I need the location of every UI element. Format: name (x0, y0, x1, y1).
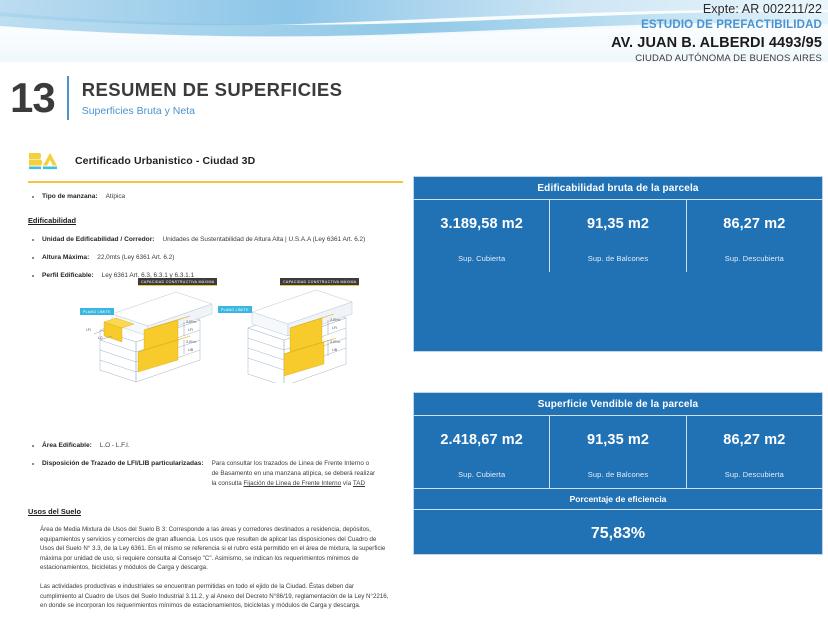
section-title: 13 RESUMEN DE SUPERFICIES Superficies Br… (10, 76, 342, 120)
ba-logo-icon (28, 151, 61, 171)
section-number: 13 (10, 76, 67, 120)
dim-top-right: 3,00 m (330, 318, 340, 322)
diagram-left-graphic (78, 278, 223, 383)
bruta-descubierta-caption: Sup. Descubierta (725, 254, 784, 263)
disposicion-via-label: vía (343, 480, 351, 487)
table-bruta-row: 3.189,58 m2 Sup. Cubierta 91,35 m2 Sup. … (414, 200, 822, 272)
altura-maxima-value: 22,0mts (Ley 6361 Art. 6.2) (97, 253, 174, 262)
dim-top-sub-left: LFI (188, 328, 193, 332)
altura-maxima-label: Altura Máxima: (42, 253, 89, 262)
unidad-edificabilidad-value: Unidades de Sustentabilidad de Altura Al… (162, 235, 365, 244)
page-title: RESUMEN DE SUPERFICIES (82, 79, 343, 101)
unidad-edificabilidad-label: Unidad de Edificabilidad / Corredor: (42, 235, 154, 244)
bruta-cubierta-value: 3.189,58 m2 (440, 216, 523, 232)
tad-link[interactable]: TAD (353, 480, 365, 487)
dim-left-lfi: LFI (86, 328, 91, 332)
detail-area-edificable: Área Edificable: L.O - L.F.I. (28, 441, 406, 450)
section-title-divider (67, 76, 69, 120)
tipo-manzana-label: Tipo de manzana: (42, 192, 98, 201)
page-subtitle: Superficies Bruta y Neta (82, 105, 343, 118)
bottom-text-panel: Área Edificable: L.O - L.F.I. Disposició… (28, 432, 406, 611)
table-edificabilidad-bruta: Edificabilidad bruta de la parcela 3.189… (413, 176, 823, 352)
bruta-balcones-caption: Sup. de Balcones (588, 254, 648, 263)
diagram-right-caption: CAPACIDAD CONSTRUCTIVA MÁXIMA (280, 278, 359, 286)
table-vendible-row: 2.418,67 m2 Sup. Cubierta 91,35 m2 Sup. … (414, 416, 822, 488)
table-superficie-vendible: Superficie Vendible de la parcela 2.418,… (413, 392, 823, 555)
dim-bottom-left: 3,00 m (186, 340, 196, 344)
yellow-divider (28, 181, 403, 183)
porcentaje-eficiencia-label: Porcentaje de eficiencia (414, 488, 822, 510)
diagram-capacidad-constructiva-left: CAPACIDAD CONSTRUCTIVA MÁXIMA (78, 278, 223, 383)
usos-paragraph-1: Área de Media Mixtura de Usos del Suelo … (40, 525, 392, 573)
study-type-label: ESTUDIO DE PREFACTIBILIDAD (611, 18, 822, 33)
header-text-block: Expte: AR 002211/22 ESTUDIO DE PREFACTIB… (611, 2, 822, 62)
usos-del-suelo-heading: Usos del Suelo (28, 507, 406, 516)
table-vendible-header: Superficie Vendible de la parcela (414, 393, 822, 416)
table-bruta-cell-cubierta: 3.189,58 m2 Sup. Cubierta (414, 200, 549, 272)
table-bruta-header: Edificabilidad bruta de la parcela (414, 177, 822, 200)
plano-limite-badge-right: PLANO LÍMITE (218, 306, 252, 313)
left-content-panel: Certificado Urbanistico - Ciudad 3D Tipo… (28, 150, 403, 280)
dim-left-lo: LO (98, 336, 103, 340)
isometric-diagrams: CAPACIDAD CONSTRUCTIVA MÁXIMA (78, 278, 378, 383)
property-address: AV. JUAN B. ALBERDI 4493/95 (611, 35, 822, 52)
bruta-descubierta-value: 86,27 m2 (723, 216, 785, 232)
dim-top-sub-right: LFI (332, 326, 337, 330)
vendible-cubierta-caption: Sup. Cubierta (458, 470, 505, 479)
disposicion-line-1: Para consultar los trazados de Linea de … (212, 460, 370, 467)
table-bruta-cell-balcones: 91,35 m2 Sup. de Balcones (549, 200, 685, 272)
porcentaje-eficiencia-value: 75,83% (414, 510, 822, 558)
disposicion-line-3-prefix: la consulta (212, 480, 242, 487)
bruta-balcones-value: 91,35 m2 (587, 216, 649, 232)
detail-unidad-edificabilidad: Unidad de Edificabilidad / Corredor: Uni… (28, 235, 403, 244)
vendible-descubierta-value: 86,27 m2 (723, 432, 785, 448)
bruta-cubierta-caption: Sup. Cubierta (458, 254, 505, 263)
vendible-balcones-value: 91,35 m2 (587, 432, 649, 448)
diagram-right-graphic (218, 278, 363, 383)
table-bruta-cell-descubierta: 86,27 m2 Sup. Descubierta (686, 200, 822, 272)
vendible-descubierta-caption: Sup. Descubierta (725, 470, 784, 479)
dim-bottom-sub-right: LIB (332, 348, 337, 352)
detail-altura-maxima: Altura Máxima: 22,0mts (Ley 6361 Art. 6.… (28, 253, 403, 262)
area-edificable-value: L.O - L.F.I. (100, 441, 130, 450)
diagram-left-caption: CAPACIDAD CONSTRUCTIVA MÁXIMA (138, 278, 217, 286)
usos-paragraph-2: Las actividades productivas e industrial… (40, 582, 392, 611)
table-vendible-cell-descubierta: 86,27 m2 Sup. Descubierta (686, 416, 822, 488)
detail-disposicion-trazado: Disposición de Trazado de LFI/LIB partic… (28, 459, 406, 489)
plano-limite-badge-left: PLANO LÍMITE (80, 308, 114, 315)
vendible-cubierta-value: 2.418,67 m2 (440, 432, 523, 448)
dim-bottom-sub-left: LIB (188, 348, 193, 352)
table-vendible-cell-balcones: 91,35 m2 Sup. de Balcones (549, 416, 685, 488)
disposicion-line-2: de Basamento en una manzana atípica, se … (212, 470, 375, 477)
header-banner: Expte: AR 002211/22 ESTUDIO DE PREFACTIB… (0, 0, 828, 62)
detail-tipo-manzana: Tipo de manzana: Atípica (28, 192, 403, 201)
dim-top-left: 3,00 m (186, 320, 196, 324)
disposicion-label: Disposición de Trazado de LFI/LIB partic… (42, 459, 204, 468)
certificate-title: Certificado Urbanistico - Ciudad 3D (75, 155, 255, 167)
tipo-manzana-value: Atípica (106, 192, 126, 201)
expediente-number: Expte: AR 002211/22 (611, 2, 822, 17)
dim-bottom-right: 3,00 m (330, 340, 340, 344)
table-vendible-cell-cubierta: 2.418,67 m2 Sup. Cubierta (414, 416, 549, 488)
fijacion-linea-frente-link[interactable]: Fijación de Linea de Frente Interno (243, 480, 341, 487)
certificate-header: Certificado Urbanistico - Ciudad 3D (28, 150, 403, 172)
city-label: CIUDAD AUTÓNOMA DE BUENOS AIRES (611, 53, 822, 62)
area-edificable-label: Área Edificable: (42, 441, 92, 450)
edificabilidad-heading: Edificabilidad (28, 216, 403, 226)
diagram-capacidad-constructiva-right: CAPACIDAD CONSTRUCTIVA MÁXIMA (218, 278, 363, 383)
vendible-balcones-caption: Sup. de Balcones (588, 470, 648, 479)
